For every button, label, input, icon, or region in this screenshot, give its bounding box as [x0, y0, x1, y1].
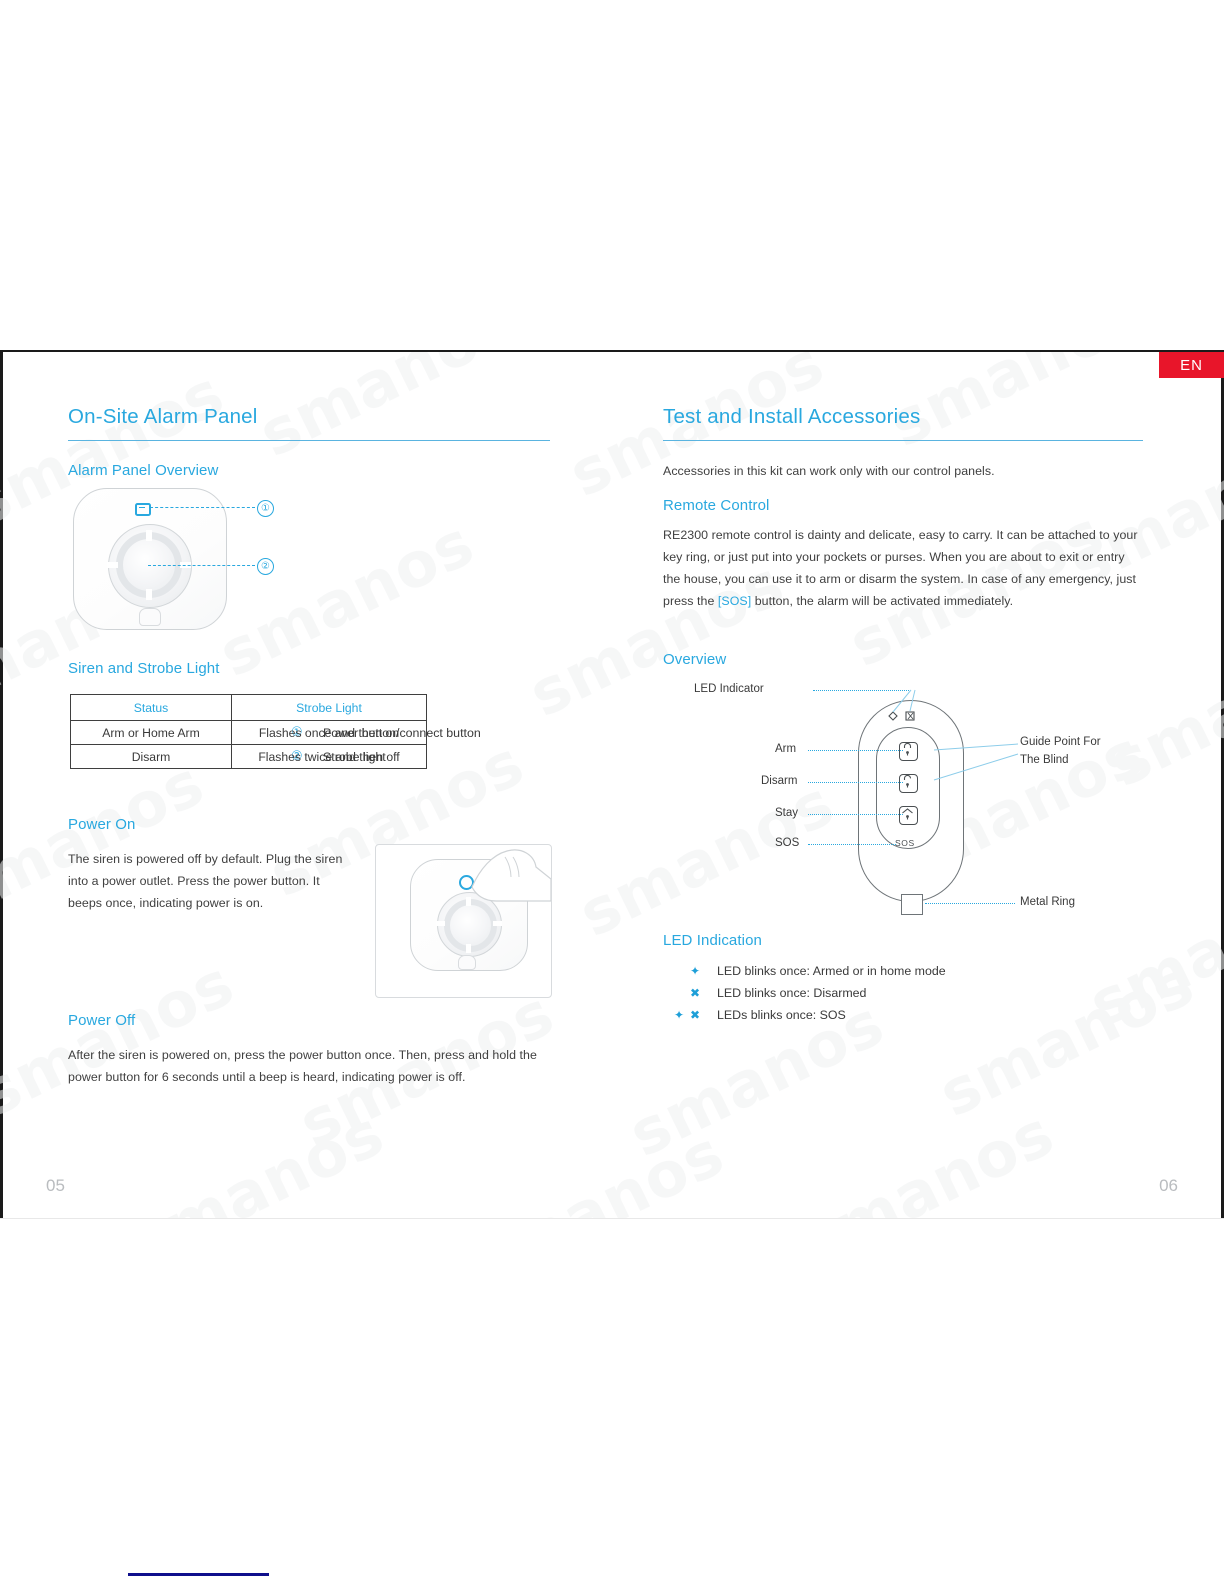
document-page-sheet: smanos smanos smanos smanos smanos smano… — [0, 350, 1224, 1219]
page-left-rail — [0, 352, 3, 1218]
leader-led-indicator — [813, 690, 909, 691]
heading-alarm-panel-overview: Alarm Panel Overview — [68, 462, 218, 479]
heading-overview: Overview — [663, 651, 726, 668]
power-on-text: The siren is powered off by default. Plu… — [68, 848, 348, 914]
label-disarm: Disarm — [761, 775, 797, 787]
metal-ring-shape — [901, 894, 923, 915]
cell-status: Disarm — [71, 745, 232, 769]
table-row: Disarm Flashes twice and then off — [71, 745, 427, 769]
column-header-status: Status — [71, 695, 232, 721]
siren-strobe-table: Status Strobe Light Arm or Home Arm Flas… — [70, 694, 427, 769]
led-diamond-icon: ✦ — [687, 964, 703, 978]
watermark-text: smanos — [0, 946, 245, 1131]
watermark-text: smanos — [928, 946, 1205, 1131]
watermark-text: smanos — [118, 1096, 395, 1218]
led-cross-icon: ✖ — [687, 986, 703, 1000]
arm-lock-icon — [899, 742, 918, 761]
label-led-indicator: LED Indicator — [694, 683, 764, 695]
disarm-unlock-icon — [899, 774, 918, 793]
column-header-strobe-light: Strobe Light — [232, 695, 427, 721]
leader-metal-ring — [925, 903, 1015, 904]
list-item: x ✦ LED blinks once: Armed or in home mo… — [671, 960, 946, 982]
watermark-text: smanos — [788, 1096, 1065, 1218]
led-indication-list: x ✦ LED blinks once: Armed or in home mo… — [671, 960, 946, 1026]
cell-strobe: Flashes twice and then off — [232, 745, 427, 769]
lens-slot — [146, 589, 152, 600]
sos-button-label: SOS — [895, 838, 915, 848]
led-item-text: LED blinks once: Armed or in home mode — [717, 964, 946, 978]
led-item-text: LEDs blinks once: SOS — [717, 1008, 846, 1022]
siren-foot — [139, 608, 161, 626]
heading-power-on: Power On — [68, 816, 136, 833]
table-header-row: Status Strobe Light — [71, 695, 427, 721]
leader-arm — [808, 750, 903, 751]
lens-slot — [146, 530, 152, 541]
callout-line-2 — [148, 565, 255, 566]
left-section-header: On-Site Alarm Panel — [68, 405, 550, 441]
bottom-progress-bar[interactable] — [128, 1573, 269, 1576]
watermark-text: smanos — [458, 1116, 735, 1218]
page-number-right: 06 — [1159, 1176, 1178, 1196]
callout-marker-1: ① — [257, 500, 274, 517]
lens-slot — [107, 562, 118, 568]
alarm-panel-figure: ① ② ① Power button/connect button ② Stro… — [68, 482, 550, 642]
page-number-left: 05 — [46, 1176, 65, 1196]
accessories-intro-text: Accessories in this kit can work only wi… — [663, 460, 1141, 482]
cell-status: Arm or Home Arm — [71, 721, 232, 745]
leader-disarm — [808, 782, 903, 783]
remote-text-after: button, the alarm will be activated imme… — [751, 594, 1013, 608]
cell-strobe: Flashes once and then on — [232, 721, 427, 745]
power-on-illustration — [375, 844, 552, 998]
table-row: Arm or Home Arm Flashes once and then on — [71, 721, 427, 745]
page-title: On-Site Alarm Panel — [68, 405, 550, 429]
title-rule — [68, 440, 550, 441]
remote-control-text: RE2300 remote control is dainty and deli… — [663, 524, 1141, 612]
title-rule — [663, 440, 1143, 441]
right-section-header: Test and Install Accessories — [663, 405, 1143, 441]
label-guide-point-line1: Guide Point For — [1020, 736, 1101, 748]
stay-home-lock-icon — [899, 806, 918, 825]
label-sos: SOS — [775, 837, 799, 849]
power-button-led-icon — [135, 503, 151, 516]
remote-control-figure: SOS LED Indicator Arm Disarm Stay SOS Gu… — [663, 672, 1143, 912]
heading-siren-and-strobe-light: Siren and Strobe Light — [68, 660, 219, 677]
sos-token: [SOS] — [718, 594, 751, 608]
led-cross-icon: ✖ — [687, 1008, 703, 1022]
label-metal-ring: Metal Ring — [1020, 896, 1075, 908]
leader-sos — [808, 844, 896, 845]
heading-power-off: Power Off — [68, 1012, 135, 1029]
list-item: x ✖ LED blinks once: Disarmed — [671, 982, 946, 1004]
heading-remote-control: Remote Control — [663, 497, 769, 514]
callout-marker-2: ② — [257, 558, 274, 575]
label-guide-point-line2: The Blind — [1020, 754, 1069, 766]
list-item: ✦ ✖ LEDs blinks once: SOS — [671, 1004, 946, 1026]
label-arm: Arm — [775, 743, 796, 755]
label-stay: Stay — [775, 807, 798, 819]
page-title: Test and Install Accessories — [663, 405, 1143, 429]
heading-led-indication: LED Indication — [663, 932, 762, 949]
led-diamond-icon — [889, 712, 897, 720]
led-item-text: LED blinks once: Disarmed — [717, 986, 866, 1000]
led-diamond-icon: ✦ — [671, 1008, 687, 1022]
power-off-text: After the siren is powered on, press the… — [68, 1044, 546, 1088]
finger-press-icon — [376, 845, 551, 997]
callout-line-1 — [150, 507, 255, 508]
leader-stay — [808, 814, 903, 815]
language-badge[interactable]: EN — [1159, 352, 1224, 378]
